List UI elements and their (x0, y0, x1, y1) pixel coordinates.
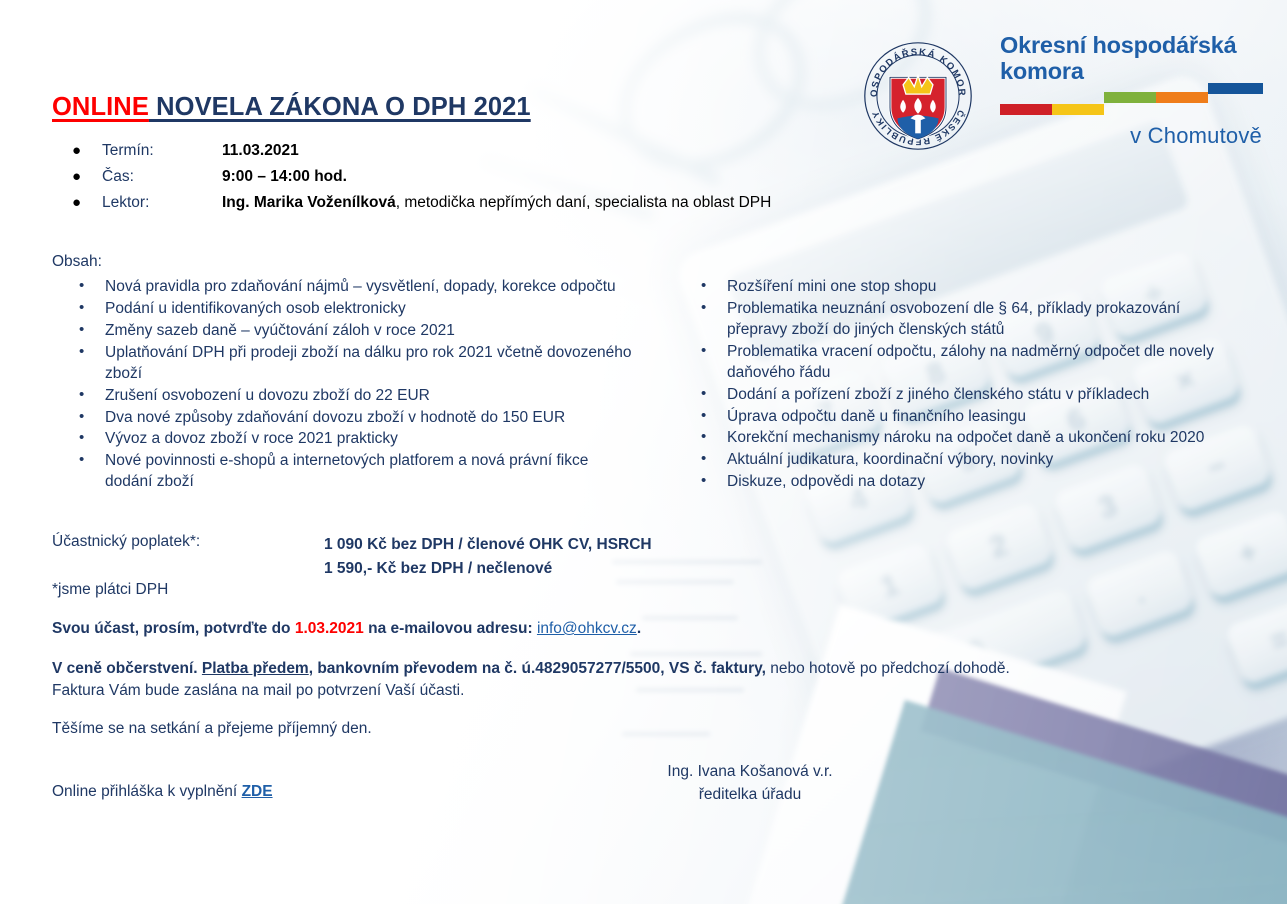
payment-seg-catering: V ceně občerstvení. (52, 660, 202, 677)
agenda-column-right: Rozšíření mini one stop shopu Problemati… (694, 277, 1234, 494)
payment-seg-bank: , bankovním převodem na č. ú.4829057277/… (309, 660, 766, 677)
logo-bar-yellow (1052, 104, 1104, 115)
confirm-deadline-date: 1.03.2021 (295, 620, 364, 637)
meta-value-date: 11.03.2021 (222, 142, 299, 160)
agenda-item: Podání u identifikovaných osob elektroni… (72, 299, 632, 320)
payment-line-2: Faktura Vám bude zaslána na mail po potv… (52, 680, 1232, 702)
lecturer-name: Ing. Marika Voženílková (222, 194, 396, 211)
confirmation-line: Svou účast, prosím, potvrďte do 1.03.202… (52, 620, 641, 638)
logo-title-line2: komora (1000, 58, 1262, 84)
fee-section: Účastnický poplatek*: 1 090 Kč bez DPH /… (52, 533, 652, 581)
closing-line: Těšíme se na setkání a přejeme příjemný … (52, 720, 372, 738)
agenda-item: Problematika neuznání osvobození dle § 6… (694, 299, 1234, 341)
logo-bar-blue (1208, 83, 1263, 94)
payment-paragraph: V ceně občerstvení. Platba předem, banko… (52, 658, 1232, 703)
meta-row-date: ● Termín: 11.03.2021 (72, 142, 771, 168)
confirm-text-after: . (637, 620, 641, 637)
logo-bar-orange (1156, 92, 1208, 103)
payment-seg-cash: nebo hotově po předchozí dohodě. (766, 660, 1010, 677)
agenda-item: Úprava odpočtu daně u finančního leasing… (694, 407, 1234, 428)
confirm-text-before: Svou účast, prosím, potvrďte do (52, 620, 295, 637)
agenda-item: Rozšíření mini one stop shopu (694, 277, 1234, 298)
meta-label-date: Termín: (102, 142, 222, 160)
enrollment-text: Online přihláška k vyplnění (52, 783, 237, 800)
chamber-logo: HOSPODÁŘSKÁ KOMORA ČESKÉ REPUBLIKY Okres… (862, 28, 1262, 148)
logo-bar-green (1104, 92, 1156, 103)
agenda-item: Dva nové způsoby zdaňování dovozu zboží … (72, 408, 632, 429)
document-content: HOSPODÁŘSKÁ KOMORA ČESKÉ REPUBLIKY Okres… (0, 0, 1287, 904)
meta-value-lecturer: Ing. Marika Voženílková, metodička nepří… (222, 194, 771, 212)
meta-row-time: ● Čas: 9:00 – 14:00 hod. (72, 168, 771, 194)
signature-block: Ing. Ivana Košanová v.r. ředitelka úřadu (560, 760, 940, 807)
fee-value-nonmembers: 1 590,- Kč bez DPH / nečlenové (324, 557, 652, 581)
signature-name: Ing. Ivana Košanová v.r. (560, 760, 940, 783)
bullet-dot-icon: ● (72, 195, 102, 210)
agenda-item: Nové povinnosti e-shopů a internetových … (72, 451, 632, 493)
enrollment-form-link[interactable]: ZDE (242, 783, 273, 800)
agenda-item: Diskuze, odpovědi na dotazy (694, 472, 1234, 493)
logo-title-line1: Okresní hospodářská (1000, 32, 1262, 58)
agenda-item: Aktuální judikatura, koordinační výbory,… (694, 450, 1234, 471)
page-title-rest: NOVELA ZÁKONA O DPH 2021 (149, 93, 531, 121)
agenda-item: Změny sazeb daně – vyúčtování záloh v ro… (72, 321, 632, 342)
signature-role: ředitelka úřadu (560, 783, 940, 806)
coat-of-arms-seal-icon: HOSPODÁŘSKÁ KOMORA ČESKÉ REPUBLIKY (862, 40, 974, 152)
page-title-online: ONLINE (52, 93, 149, 121)
agenda-item: Zrušení osvobození u dovozu zboží do 22 … (72, 386, 632, 407)
bullet-dot-icon: ● (72, 143, 102, 158)
agenda-item: Uplatňování DPH při prodeji zboží na dál… (72, 343, 632, 385)
page-title: ONLINE NOVELA ZÁKONA O DPH 2021 (52, 93, 531, 122)
fee-values: 1 090 Kč bez DPH / členové OHK CV, HSRCH… (324, 533, 652, 581)
agenda-item: Dodání a pořízení zboží z jiného členské… (694, 385, 1234, 406)
confirm-text-middle: na e-mailovou adresu: (364, 620, 537, 637)
lecturer-description: , metodička nepřímých daní, specialista … (396, 194, 772, 211)
logo-wordmark: Okresní hospodářská komora v Chomutově (1000, 32, 1262, 149)
agenda-item: Korekční mechanismy nároku na odpočet da… (694, 428, 1234, 449)
enrollment-line: Online přihláška k vyplnění ZDE (52, 783, 273, 801)
bullet-dot-icon: ● (72, 169, 102, 184)
meta-row-lecturer: ● Lektor: Ing. Marika Voženílková, metod… (72, 194, 771, 220)
logo-color-bars (1000, 89, 1248, 115)
meta-label-lecturer: Lektor: (102, 194, 222, 212)
agenda-item: Nová pravidla pro zdaňování nájmů – vysv… (72, 277, 632, 298)
logo-city-label: v Chomutově (1000, 123, 1262, 149)
document-page: 7 8 9 ÷ 4 5 6 × 1 2 3 − 0 . + = (0, 0, 1287, 904)
agenda-column-left: Nová pravidla pro zdaňování nájmů – vysv… (72, 277, 632, 494)
logo-bar-red (1000, 104, 1052, 115)
agenda-heading: Obsah: (52, 253, 102, 271)
fee-row: Účastnický poplatek*: 1 090 Kč bez DPH /… (52, 533, 652, 581)
fee-label: Účastnický poplatek*: (52, 533, 324, 581)
payment-seg-prepayment: Platba předem (202, 660, 309, 677)
meta-value-time: 9:00 – 14:00 hod. (222, 168, 347, 186)
meta-label-time: Čas: (102, 168, 222, 186)
agenda-item: Problematika vracení odpočtu, zálohy na … (694, 342, 1234, 384)
agenda-item: Vývoz a dovoz zboží v roce 2021 praktick… (72, 429, 632, 450)
fee-value-members: 1 090 Kč bez DPH / členové OHK CV, HSRCH (324, 533, 652, 557)
vat-note: *jsme plátci DPH (52, 581, 168, 599)
payment-line-1: V ceně občerstvení. Platba předem, banko… (52, 658, 1232, 680)
contact-email-link[interactable]: info@ohkcv.cz (537, 620, 637, 637)
event-meta-list: ● Termín: 11.03.2021 ● Čas: 9:00 – 14:00… (72, 142, 771, 220)
